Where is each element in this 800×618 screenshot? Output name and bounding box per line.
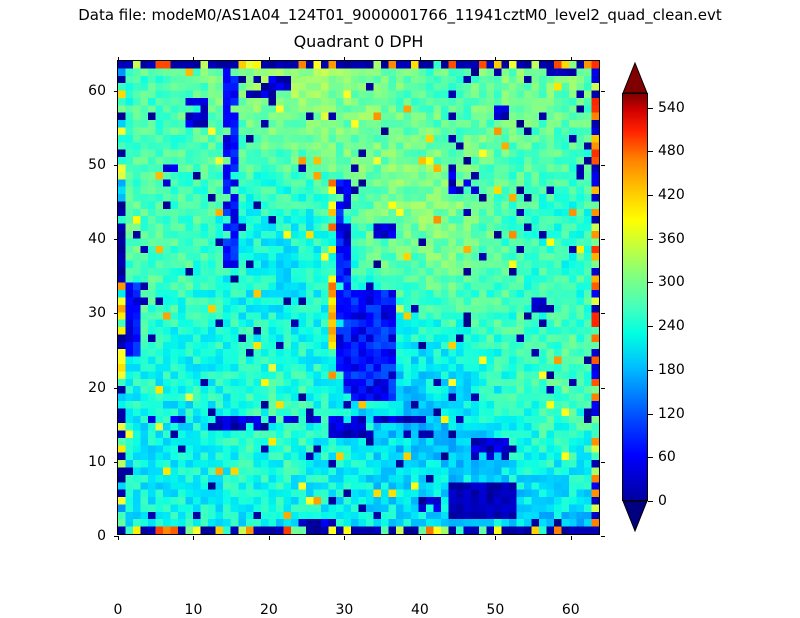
colorbar-tick-label: 180 [658, 362, 685, 378]
colorbar-extend-top-arrow [622, 62, 648, 94]
x-tick-mark [118, 536, 119, 540]
x-tick-mark [571, 57, 572, 61]
y-tick-mark [114, 91, 118, 92]
y-tick-mark [601, 313, 605, 314]
colorbar-tick-label: 480 [658, 143, 685, 159]
x-tick-label: 30 [335, 602, 353, 618]
x-tick-mark [420, 536, 421, 540]
y-tick-mark [601, 462, 605, 463]
x-tick-mark [118, 57, 119, 61]
colorbar: 060120180240300360420480540 [622, 62, 648, 532]
y-tick-label: 0 [97, 528, 106, 544]
y-tick-mark [114, 462, 118, 463]
y-tick-mark [114, 388, 118, 389]
y-tick-label: 20 [88, 380, 106, 396]
colorbar-tick-mark [648, 457, 653, 458]
y-tick-label: 60 [88, 83, 106, 99]
colorbar-tick-label: 0 [658, 493, 667, 509]
figure-canvas: Data file: modeM0/AS1A04_124T01_90000017… [0, 0, 800, 600]
y-tick-label: 30 [88, 305, 106, 321]
heatmap-image [118, 61, 599, 534]
colorbar-gradient [622, 93, 648, 501]
x-tick-label: 60 [562, 602, 580, 618]
x-tick-mark [420, 57, 421, 61]
x-tick-label: 40 [411, 602, 429, 618]
colorbar-tick-mark [648, 501, 653, 502]
colorbar-tick-mark [648, 195, 653, 196]
x-tick-label: 50 [486, 602, 504, 618]
x-tick-label: 20 [260, 602, 278, 618]
x-tick-label: 0 [114, 602, 123, 618]
x-tick-mark [495, 536, 496, 540]
heatmap-axes: 01020304050600102030405060 [117, 60, 600, 535]
y-tick-mark [601, 165, 605, 166]
y-tick-mark [601, 388, 605, 389]
y-tick-mark [114, 313, 118, 314]
y-tick-label: 40 [88, 231, 106, 247]
colorbar-tick-mark [648, 326, 653, 327]
colorbar-tick-mark [648, 239, 653, 240]
y-tick-label: 50 [88, 157, 106, 173]
x-tick-label: 10 [185, 602, 203, 618]
y-tick-mark [114, 536, 118, 537]
colorbar-extend-bottom-arrow [622, 500, 648, 532]
axes-title: Quadrant 0 DPH [117, 32, 600, 51]
colorbar-tick-label: 120 [658, 406, 685, 422]
x-tick-mark [193, 57, 194, 61]
colorbar-tick-mark [648, 151, 653, 152]
y-tick-mark [601, 536, 605, 537]
colorbar-tick-label: 60 [658, 449, 676, 465]
x-tick-mark [269, 57, 270, 61]
y-tick-label: 10 [88, 454, 106, 470]
data-file-title: Data file: modeM0/AS1A04_124T01_90000017… [0, 6, 800, 24]
x-tick-mark [344, 536, 345, 540]
colorbar-tick-label: 240 [658, 318, 685, 334]
colorbar-tick-label: 540 [658, 100, 685, 116]
colorbar-tick-mark [648, 282, 653, 283]
x-tick-mark [269, 536, 270, 540]
colorbar-tick-mark [648, 108, 653, 109]
colorbar-tick-label: 420 [658, 187, 685, 203]
colorbar-tick-label: 360 [658, 231, 685, 247]
colorbar-tick-mark [648, 414, 653, 415]
y-tick-mark [114, 239, 118, 240]
colorbar-tick-label: 300 [658, 274, 685, 290]
y-tick-mark [601, 91, 605, 92]
x-tick-mark [344, 57, 345, 61]
x-tick-mark [193, 536, 194, 540]
x-tick-mark [571, 536, 572, 540]
x-tick-mark [495, 57, 496, 61]
y-tick-mark [114, 165, 118, 166]
y-tick-mark [601, 239, 605, 240]
colorbar-tick-mark [648, 370, 653, 371]
